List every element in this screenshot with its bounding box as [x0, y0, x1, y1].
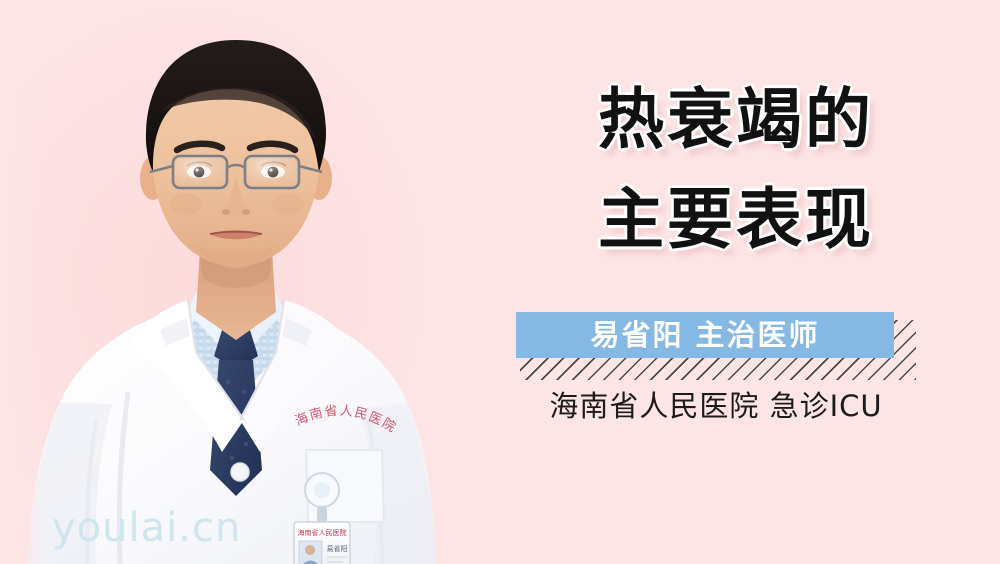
site-watermark: youlai.cn — [52, 505, 241, 551]
title-line-1: 热衰竭的 — [516, 70, 956, 170]
photo-left-feather — [0, 0, 46, 564]
speaker-banner: 易省阳 主治医师 — [516, 312, 916, 376]
doctor-head — [140, 40, 332, 270]
doctor-portrait-photo: 海南省人民医院 海南省人民医院 易省阳 — [0, 0, 470, 564]
title-line-2: 主要表现 — [516, 170, 956, 270]
speaker-name-rank-label: 易省阳 主治医师 — [590, 321, 819, 350]
photo-right-feather — [418, 0, 528, 564]
speaker-name-badge: 易省阳 主治医师 — [516, 312, 894, 358]
video-cover-card: 海南省人民医院 海南省人民医院 易省阳 — [0, 0, 1000, 564]
svg-text:易省阳: 易省阳 — [327, 544, 348, 553]
page-title: 热衰竭的 主要表现 — [516, 70, 956, 270]
speaker-affiliation: 海南省人民医院 急诊ICU — [516, 383, 916, 425]
svg-text:海南省人民医院: 海南省人民医院 — [298, 528, 347, 537]
